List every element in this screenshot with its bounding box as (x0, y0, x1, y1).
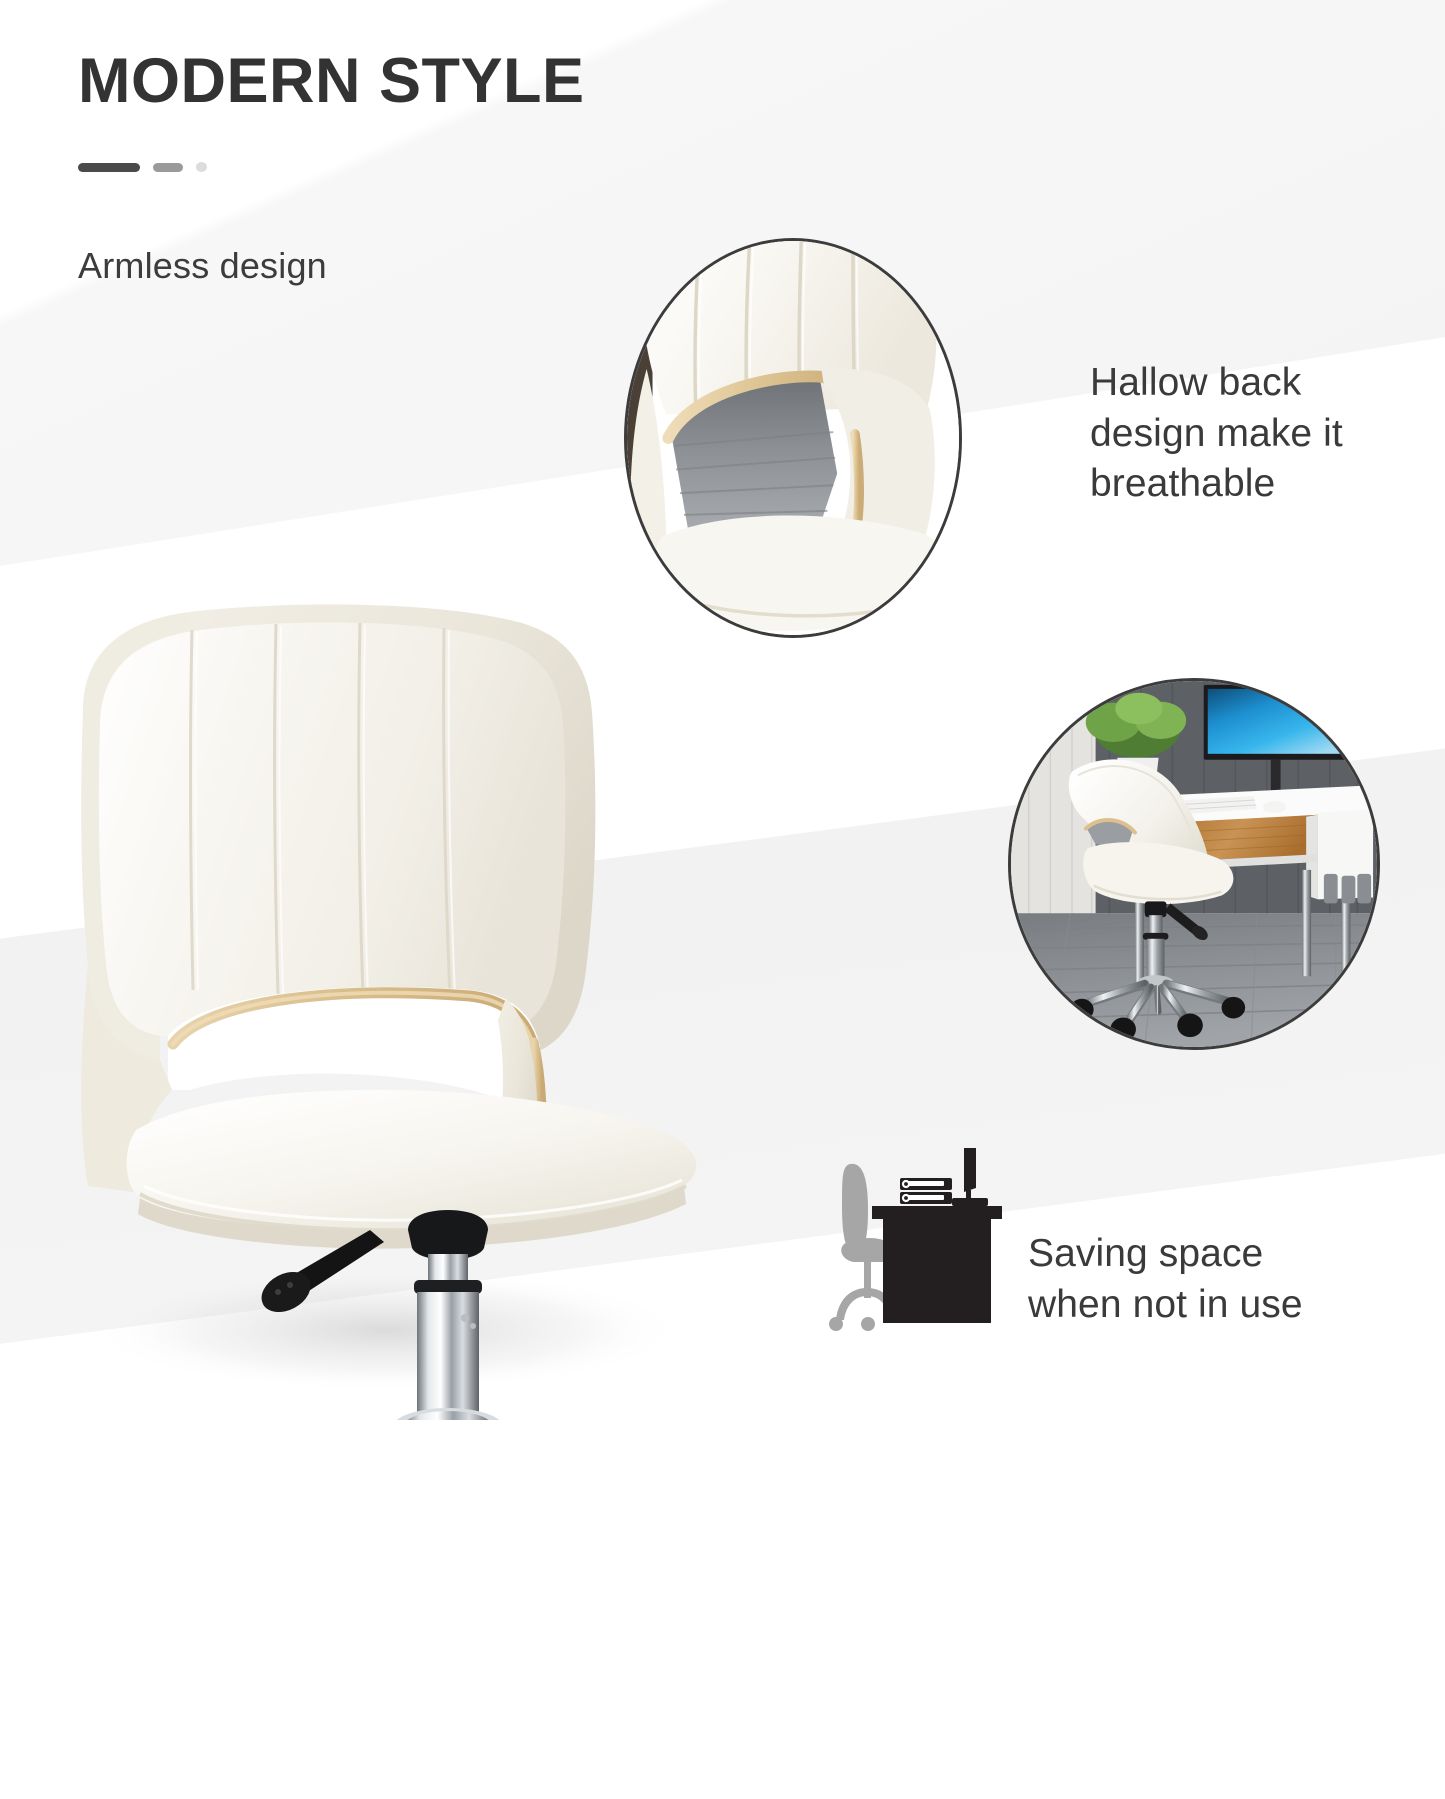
inset-hollow-back (624, 238, 962, 638)
caption-saving-line2: when not in use (1028, 1280, 1303, 1331)
caption-hollow-line3: breathable (1090, 459, 1343, 510)
caption-hollow-back: Hallow back design make it breathable (1090, 358, 1343, 510)
desk-with-chair-icon (828, 1148, 1028, 1363)
caption-saving-space: Saving space when not in use (1028, 1229, 1303, 1330)
dot-inactive-icon (196, 162, 207, 172)
header: MODERN STYLE (78, 48, 585, 172)
subtitle: Armless design (78, 245, 327, 287)
dash-mid-icon (153, 163, 183, 172)
dash-active-icon (78, 163, 140, 172)
caption-hollow-line2: design make it (1090, 409, 1343, 460)
caption-saving-line1: Saving space (1028, 1229, 1303, 1280)
caption-hollow-line1: Hallow back (1090, 358, 1343, 409)
page-title: MODERN STYLE (78, 48, 585, 114)
inset-room-scene (1008, 678, 1380, 1050)
progress-indicator (78, 162, 585, 172)
